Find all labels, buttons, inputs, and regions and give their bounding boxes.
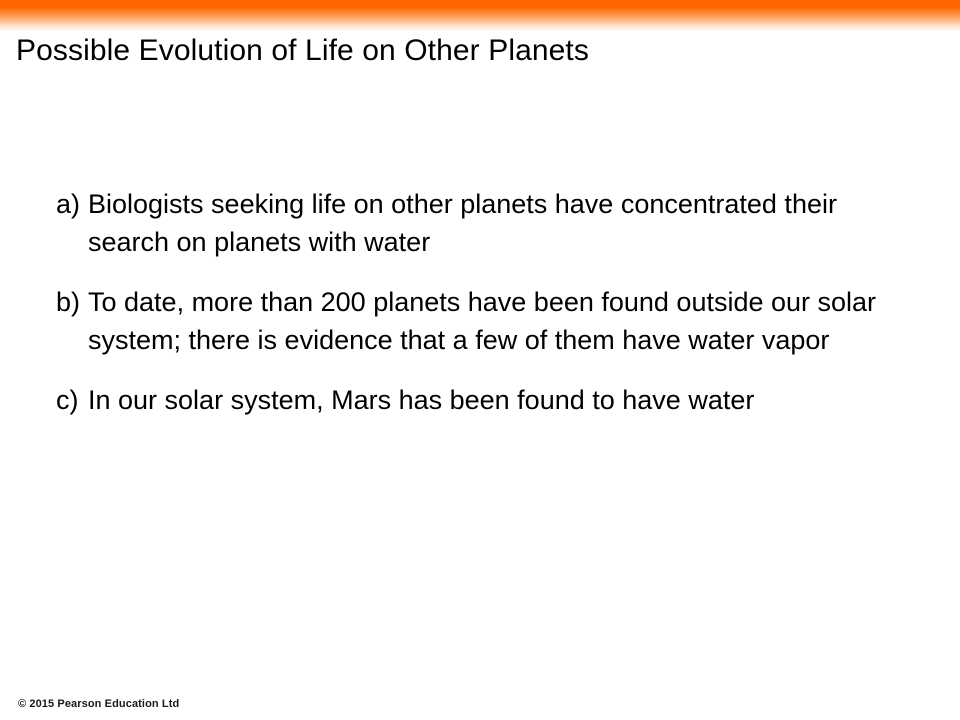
- list-item: c) In our solar system, Mars has been fo…: [56, 381, 924, 419]
- list-item-marker: c): [56, 381, 88, 419]
- orange-gradient-bar: [0, 0, 960, 32]
- presentation-slide: Possible Evolution of Life on Other Plan…: [0, 0, 960, 720]
- list-item-marker: b): [56, 283, 88, 321]
- list-item-text: Biologists seeking life on other planets…: [88, 185, 924, 261]
- list-item: a) Biologists seeking life on other plan…: [56, 185, 924, 261]
- list-item-marker: a): [56, 185, 88, 223]
- list-item-text: To date, more than 200 planets have been…: [88, 283, 924, 359]
- page-title: Possible Evolution of Life on Other Plan…: [16, 32, 936, 70]
- content-list: a) Biologists seeking life on other plan…: [56, 185, 924, 419]
- copyright-notice: © 2015 Pearson Education Ltd: [18, 697, 179, 711]
- list-item-text: In our solar system, Mars has been found…: [88, 381, 924, 419]
- list-item: b) To date, more than 200 planets have b…: [56, 283, 924, 359]
